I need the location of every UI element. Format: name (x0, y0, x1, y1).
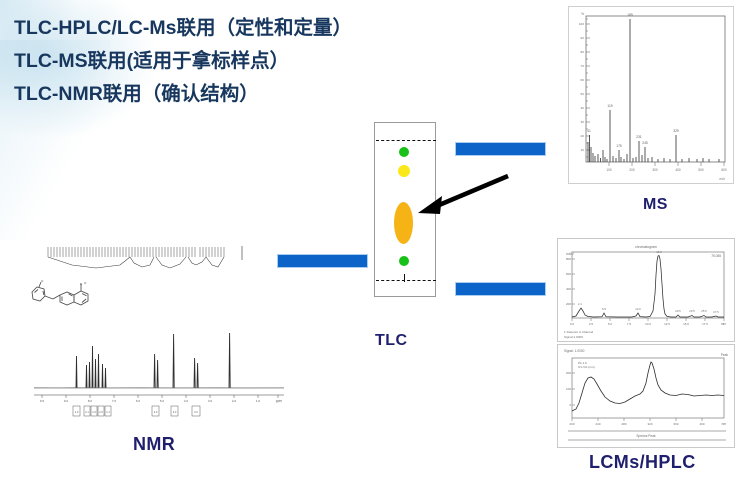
svg-text:245: 245 (642, 141, 648, 145)
svg-text:7.0: 7.0 (112, 399, 117, 403)
svg-text:800: 800 (566, 257, 571, 261)
svg-text:nm: nm (722, 422, 727, 426)
svg-text:4.0: 4.0 (184, 399, 189, 403)
figure-ms-spectrum: 10090 8070 6050 4030 2010 % 100200 30040… (568, 6, 734, 184)
connector-bar-to-lcms-hplc (455, 282, 546, 296)
svg-text:40: 40 (581, 106, 585, 110)
svg-text:200: 200 (569, 422, 574, 426)
origin-line (376, 280, 436, 281)
svg-text:200: 200 (629, 168, 635, 172)
svg-text:280: 280 (621, 422, 626, 426)
svg-text:9.0: 9.0 (64, 399, 69, 403)
svg-text:17.5: 17.5 (702, 322, 708, 326)
svg-text:200: 200 (566, 302, 571, 306)
svg-text:6.0: 6.0 (136, 399, 141, 403)
svg-text:12.0: 12.0 (635, 307, 641, 311)
svg-text:240: 240 (595, 422, 600, 426)
svg-text:9.5: 9.5 (40, 399, 45, 403)
svg-text:100: 100 (579, 22, 584, 26)
svg-text:1.0: 1.0 (256, 399, 261, 403)
svg-text:1.1: 1.1 (106, 410, 110, 414)
caption-nmr: NMR (133, 434, 175, 455)
svg-text:10: 10 (581, 148, 585, 152)
svg-text:80: 80 (581, 50, 585, 54)
svg-text:360: 360 (673, 422, 678, 426)
svg-text:320: 320 (647, 422, 652, 426)
figure-lcms-uv-trace: Signal: 1.0000 Peak Pk 1.0 UV-Vis (nm) 2… (557, 344, 735, 448)
svg-text:500: 500 (698, 168, 704, 172)
svg-text:10.0: 10.0 (645, 322, 651, 326)
svg-text:2.5: 2.5 (589, 322, 594, 326)
svg-text:50: 50 (581, 92, 585, 96)
svg-text:400: 400 (566, 287, 571, 291)
svg-text:16.0: 16.0 (656, 250, 662, 254)
caption-tlc: TLC (375, 332, 408, 350)
svg-text:2.0: 2.0 (154, 410, 158, 414)
headline-line-1: TLC-HPLC/LC-Ms联用（定性和定量） (14, 12, 444, 45)
svg-text:23.5: 23.5 (689, 309, 695, 313)
solvent-front-line (376, 140, 436, 141)
svg-text:Spectra Peak: Spectra Peak (636, 434, 656, 438)
figure-nmr-spectrum: 9.59.08.0 7.06.05.0 4.03.02.0 1.0 ppm 1.… (30, 332, 288, 420)
svg-text:329: 329 (673, 129, 679, 133)
svg-text:400: 400 (675, 168, 681, 172)
svg-text:600: 600 (721, 168, 727, 172)
figure-molecular-structure: O O (26, 278, 98, 312)
svg-text:5.0: 5.0 (608, 322, 613, 326)
svg-text:5.0: 5.0 (160, 399, 165, 403)
svg-text:chromatogram: chromatogram (635, 245, 657, 249)
svg-text:2.1: 2.1 (578, 302, 582, 306)
svg-text:300: 300 (652, 168, 658, 172)
svg-text:175: 175 (616, 144, 622, 148)
svg-text:231: 231 (636, 135, 642, 139)
svg-text:2.0: 2.0 (194, 410, 198, 414)
svg-text:15.0: 15.0 (683, 322, 689, 326)
svg-text:100: 100 (606, 168, 612, 172)
svg-text:400: 400 (699, 422, 704, 426)
svg-text:189: 189 (627, 13, 633, 17)
svg-text:3.0: 3.0 (208, 399, 213, 403)
svg-text:600: 600 (566, 272, 571, 276)
svg-text:UV-Vis (nm): UV-Vis (nm) (578, 365, 595, 369)
svg-text:60: 60 (581, 78, 585, 82)
svg-text:90: 90 (581, 36, 585, 40)
svg-text:7.5: 7.5 (627, 322, 632, 326)
svg-text:1.9: 1.9 (92, 410, 96, 414)
svg-text:41: 41 (587, 129, 591, 133)
caption-lcms-hplc: LCMs/HPLC (589, 452, 696, 473)
svg-text:20.5: 20.5 (675, 309, 681, 313)
svg-text:%: % (581, 12, 584, 16)
svg-text:20: 20 (581, 134, 585, 138)
connector-bar-to-ms (455, 142, 546, 156)
svg-text:min: min (721, 322, 726, 326)
svg-text:12.5: 12.5 (664, 322, 670, 326)
svg-text:Signal:1.0000: Signal:1.0000 (564, 335, 583, 339)
svg-text:100: 100 (566, 387, 571, 391)
svg-text:3.0: 3.0 (173, 410, 177, 414)
svg-text:8.0: 8.0 (88, 399, 93, 403)
svg-text:5.5: 5.5 (602, 307, 606, 311)
origin-tick (404, 274, 405, 282)
svg-text:m/z: m/z (720, 177, 726, 181)
svg-text:25.5: 25.5 (701, 309, 707, 313)
svg-text:2.0: 2.0 (232, 399, 237, 403)
figure-hplc-chromatogram: chromatogram mAU 75.085 800600 400200 (557, 238, 735, 342)
headline-line-2: TLC-MS联用(适用于拿标样点） (14, 45, 444, 78)
svg-text:200: 200 (566, 371, 571, 375)
svg-text:1 Detector A Channel: 1 Detector A Channel (564, 330, 594, 334)
figure-nmr-expanded-region (30, 243, 275, 275)
svg-text:mAU: mAU (566, 252, 574, 256)
headline-block: TLC-HPLC/LC-Ms联用（定性和定量） TLC-MS联用(适用于拿标样点… (14, 12, 444, 111)
svg-text:2.0: 2.0 (99, 410, 103, 414)
svg-text:ppm: ppm (276, 399, 283, 403)
svg-text:75.085: 75.085 (711, 254, 721, 258)
svg-text:Signal: 1.0000: Signal: 1.0000 (564, 349, 585, 353)
slide-canvas: TLC-HPLC/LC-Ms联用（定性和定量） TLC-MS联用(适用于拿标样点… (0, 0, 738, 484)
svg-text:70: 70 (581, 64, 585, 68)
svg-text:2.1: 2.1 (85, 410, 89, 414)
caption-ms: MS (643, 196, 668, 214)
svg-text:1.0: 1.0 (75, 410, 79, 414)
svg-text:0.0: 0.0 (570, 322, 575, 326)
tlc-spot-green-lower (399, 256, 409, 266)
svg-text:119: 119 (607, 104, 612, 108)
tlc-spot-green-upper (399, 147, 409, 157)
headline-line-3: TLC-NMR联用（确认结构） (14, 78, 444, 111)
pointer-arrow-icon (408, 168, 518, 223)
svg-text:30: 30 (581, 120, 585, 124)
connector-bar-to-nmr (277, 254, 368, 268)
svg-text:27.5: 27.5 (713, 310, 719, 314)
svg-text:Peak: Peak (721, 353, 729, 357)
